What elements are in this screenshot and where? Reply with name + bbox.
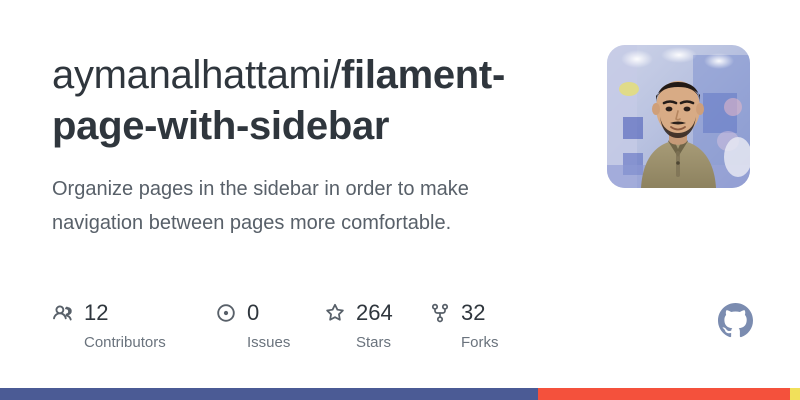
language-segment-blue xyxy=(0,388,538,400)
issue-opened-icon xyxy=(215,302,237,324)
stat-forks: 32 Forks xyxy=(429,300,579,351)
stat-contributors: 12 Contributors xyxy=(52,300,202,351)
people-icon xyxy=(52,302,74,324)
repository-description: Organize pages in the sidebar in order t… xyxy=(52,172,552,240)
stat-forks-top: 32 xyxy=(429,300,579,326)
stat-stars-value: 264 xyxy=(356,302,393,324)
stat-forks-value: 32 xyxy=(461,302,485,324)
stat-contributors-value: 12 xyxy=(84,302,108,324)
avatar xyxy=(607,45,750,188)
stat-contributors-label: Contributors xyxy=(84,335,202,351)
repository-owner: aymanalhattami/ xyxy=(52,53,341,97)
stat-issues-value: 0 xyxy=(247,302,259,324)
star-icon xyxy=(324,302,346,324)
stat-forks-label: Forks xyxy=(461,335,579,351)
language-segment-yellow xyxy=(790,388,800,400)
repo-forked-icon xyxy=(429,302,451,324)
avatar-photo xyxy=(607,45,750,188)
page-title: aymanalhattami/filament-page-with-sideba… xyxy=(52,50,582,152)
language-bar xyxy=(0,388,800,400)
github-logo-icon xyxy=(718,303,753,338)
repository-social-card: aymanalhattami/filament-page-with-sideba… xyxy=(0,0,800,400)
stat-contributors-top: 12 xyxy=(52,300,202,326)
language-segment-red xyxy=(538,388,791,400)
